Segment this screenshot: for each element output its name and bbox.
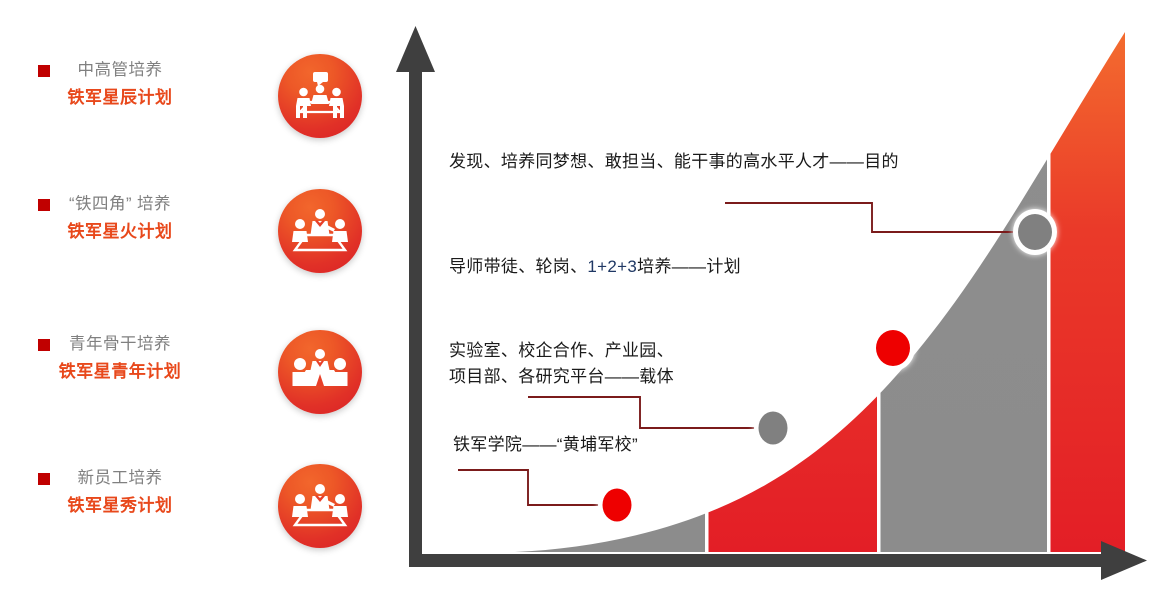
legend-item-4-top-label: 新员工培养 xyxy=(0,464,240,488)
marker-purpose[interactable] xyxy=(1018,214,1052,250)
legend-item-1-top-label: 中高管培养 xyxy=(0,56,240,80)
leader-line-academy xyxy=(458,470,617,505)
callout-plan: 导师带徒、轮岗、1+2+3培养——计划 xyxy=(449,255,741,280)
curve-segments xyxy=(513,14,1159,554)
segment-4-red xyxy=(1049,14,1159,554)
legend-item-1-row: 中高管培养 xyxy=(0,56,250,86)
training-session-icon[interactable] xyxy=(278,464,362,548)
presentation-meeting-icon[interactable] xyxy=(278,189,362,273)
legend-item-4[interactable]: 新员工培养 铁军星秀计划 xyxy=(0,464,250,554)
slide-canvas: 中高管培养 铁军星辰计划 “铁四角” 培养 铁军星火计划 青年骨干培养 铁军星青… xyxy=(0,0,1159,589)
callout-academy: 铁军学院——“黄埔军校” xyxy=(453,433,638,458)
program-legend-list: 中高管培养 铁军星辰计划 “铁四角” 培养 铁军星火计划 青年骨干培养 铁军星青… xyxy=(0,0,270,589)
x-axis-line xyxy=(409,554,1117,567)
legend-item-3-row: 青年骨干培养 xyxy=(0,330,250,360)
leader-line-carrier xyxy=(528,397,773,428)
training-session-glyph xyxy=(291,482,349,530)
legend-item-3-bottom-label: 铁军星青年计划 xyxy=(0,357,240,382)
roundtable-meeting-glyph xyxy=(291,348,349,396)
segment-1-gray xyxy=(513,14,707,554)
legend-item-2-row: “铁四角” 培养 xyxy=(0,190,250,220)
legend-item-2-top-label: “铁四角” 培养 xyxy=(0,190,240,214)
marker-plan[interactable] xyxy=(876,330,910,366)
legend-item-1[interactable]: 中高管培养 铁军星辰计划 xyxy=(0,56,250,146)
callout-purpose: 发现、培养同梦想、敢担当、能干事的高水平人才——目的 xyxy=(449,150,899,175)
callout-plan-post: 培养——计划 xyxy=(637,257,741,276)
segment-2-red xyxy=(707,14,879,554)
callout-carrier-line2: 项目部、各研究平台——载体 xyxy=(449,365,674,390)
callout-plan-pre: 导师带徒、轮岗、 xyxy=(449,257,587,276)
segment-3-gray xyxy=(879,14,1049,554)
y-axis-line xyxy=(409,58,422,554)
legend-item-1-bottom-label: 铁军星辰计划 xyxy=(0,83,240,108)
presentation-meeting-glyph xyxy=(291,207,349,255)
marker-academy[interactable] xyxy=(603,489,632,522)
callout-carrier-line1: 实验室、校企合作、产业园、 xyxy=(449,339,674,364)
legend-item-4-row: 新员工培养 xyxy=(0,464,250,494)
marker-carrier[interactable] xyxy=(759,412,788,445)
legend-item-2[interactable]: “铁四角” 培养 铁军星火计划 xyxy=(0,190,250,280)
callout-plan-number: 1+2+3 xyxy=(587,257,637,276)
legend-item-3[interactable]: 青年骨干培养 铁军星青年计划 xyxy=(0,330,250,420)
roundtable-meeting-icon[interactable] xyxy=(278,330,362,414)
growth-curve-chart xyxy=(395,14,1159,589)
meeting-discussion-icon[interactable] xyxy=(278,54,362,138)
legend-item-4-bottom-label: 铁军星秀计划 xyxy=(0,491,240,516)
legend-item-2-bottom-label: 铁军星火计划 xyxy=(0,217,240,242)
meeting-discussion-glyph xyxy=(291,71,349,121)
growth-curve-svg xyxy=(395,14,1159,589)
y-axis-arrow-icon xyxy=(396,26,435,72)
legend-item-3-top-label: 青年骨干培养 xyxy=(0,330,240,354)
